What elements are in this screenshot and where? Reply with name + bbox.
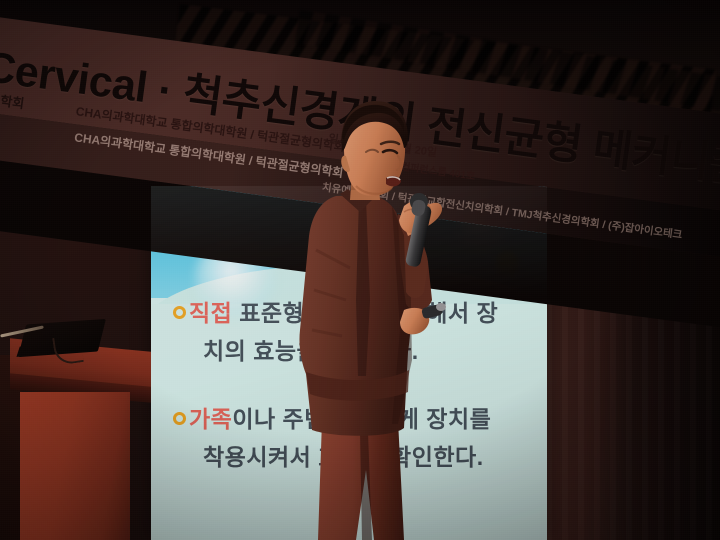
slide-bullet-1-line-2: 치의 효능을 확인한다. (173, 332, 543, 370)
photo-scene: 직접 표준형 장치를 사용해서 장 치의 효능을 확인한다. 가족이나 주변 사… (0, 0, 720, 540)
slide-bullet-2-rest: 이나 주변 사람에게 장치를 (232, 406, 491, 432)
podium-body (20, 392, 130, 540)
slide-bullet-2-line-1: 가족이나 주변 사람에게 장치를 (173, 400, 543, 438)
slide-bullet-1: 직접 표준형 장치를 사용해서 장 치의 효능을 확인한다. (173, 294, 543, 370)
bullet-ring-icon (173, 306, 186, 319)
slide-bullet-1-rest: 표준형 장치를 사용해서 장 (232, 300, 498, 326)
slide-bullet-2-line-2: 착용시켜서 효과를 확인한다. (173, 438, 543, 476)
bullet-ring-icon (173, 412, 186, 425)
slide-bullet-2: 가족이나 주변 사람에게 장치를 착용시켜서 효과를 확인한다. (173, 400, 543, 476)
slide-bullet-2-keyword: 가족 (189, 406, 232, 432)
slide-bullet-1-keyword: 직접 (189, 300, 232, 326)
slide-bullet-1-line-1: 직접 표준형 장치를 사용해서 장 (173, 294, 543, 332)
banner-date-label: 일시 : (328, 133, 356, 148)
